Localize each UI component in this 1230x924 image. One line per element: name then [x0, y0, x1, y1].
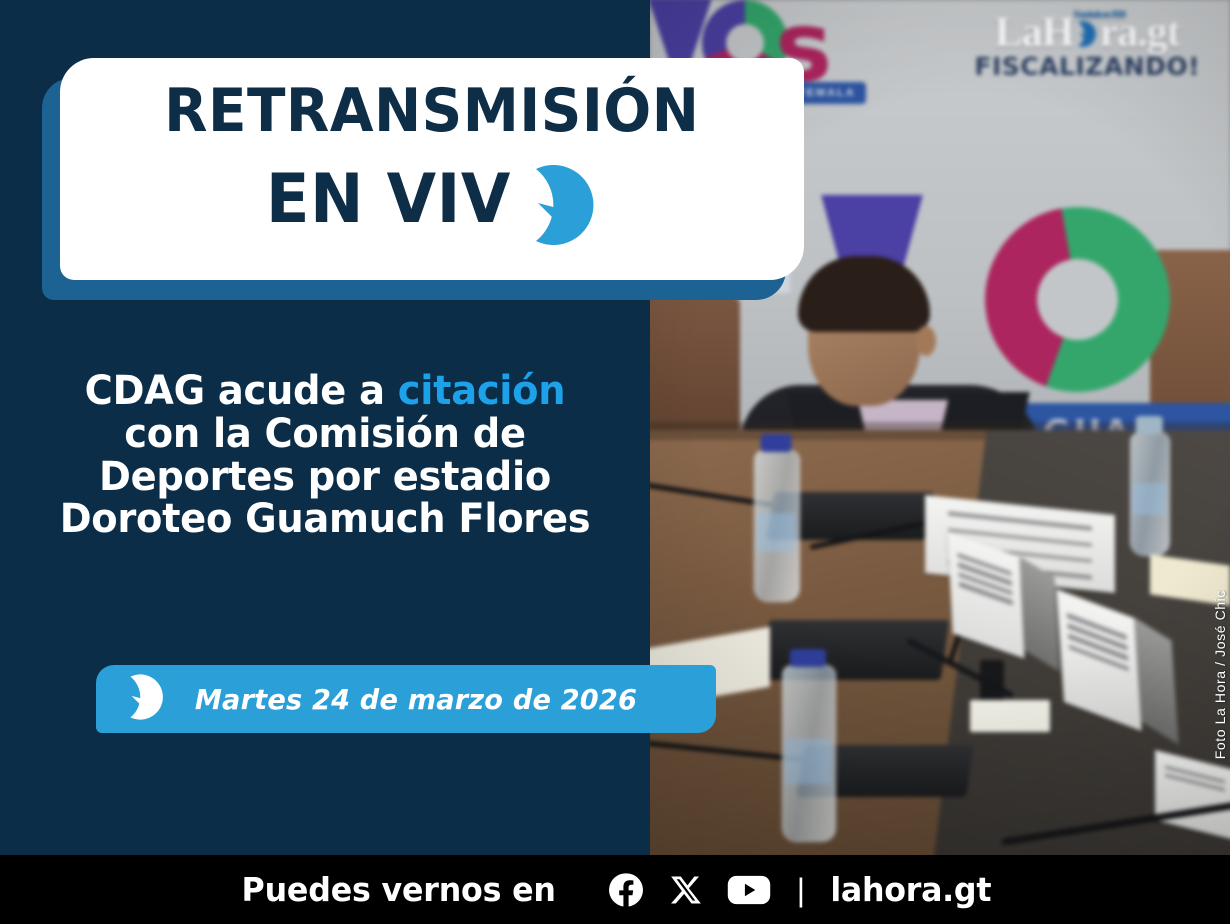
headline-accent-word: citación	[398, 368, 566, 414]
photo-credit: Foto La Hora / José Chic	[1212, 590, 1228, 759]
headline-line-2: con la Comisión de	[13, 413, 637, 456]
title-line-envivo-wrap: EN VIV	[258, 145, 607, 256]
title-card: RETRANSMISIÓN EN VIV	[60, 58, 804, 280]
title-line-envivo: EN VIV	[266, 166, 511, 234]
footer-website[interactable]: lahora.gt	[830, 870, 991, 909]
headline-line-1: CDAG acude a citación	[13, 370, 637, 413]
date-badge: Martes 24 de marzo de 2026	[96, 665, 716, 733]
headline-text-1: CDAG acude a	[85, 368, 398, 414]
headline-line-3: Deportes por estadio	[13, 456, 637, 499]
headline-line-4: Doroteo Guamuch Flores	[13, 498, 637, 541]
x-twitter-icon[interactable]	[669, 873, 703, 907]
title-line-retransmision: RETRANSMISIÓN	[164, 82, 699, 141]
footer-separator: |	[797, 874, 805, 906]
lahora-swoosh-icon	[514, 159, 606, 256]
headline: CDAG acude a citación con la Comisión de…	[0, 370, 650, 541]
promo-graphic: s GUATEMALA LaHra.gt Fundado en 1920 FIS…	[0, 0, 1230, 924]
footer-bar: Puedes vernos en | lahora.gt	[0, 855, 1230, 924]
lahora-swoosh-icon-badge	[118, 671, 170, 728]
youtube-icon[interactable]	[727, 868, 771, 912]
footer-label: Puedes vernos en	[242, 870, 556, 909]
facebook-icon[interactable]	[607, 871, 645, 909]
date-text: Martes 24 de marzo de 2026	[195, 683, 637, 716]
